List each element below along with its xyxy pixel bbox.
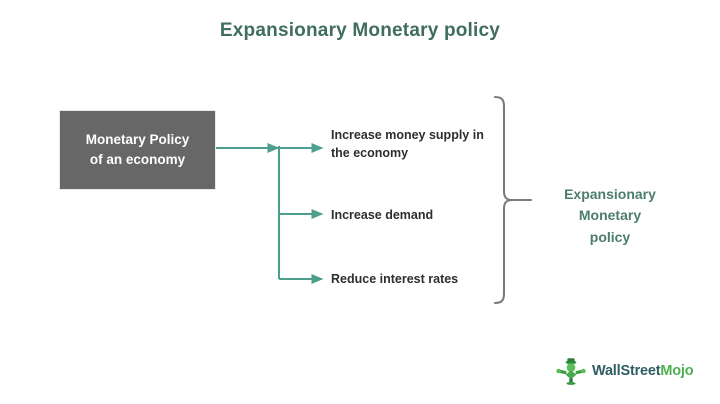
branch-label-reduce-interest-rates: Reduce interest rates (331, 270, 501, 288)
outcome-line1: Expansionary (564, 186, 656, 202)
wallstreetmojo-figure-icon (556, 356, 586, 386)
wallstreetmojo-logo: WallStreetMojo (556, 356, 693, 386)
branch-0-line1: Increase money supply in (331, 128, 484, 142)
source-node-label-line2: of an economy (90, 152, 185, 167)
source-node-label-line1: Monetary Policy (86, 132, 190, 147)
logo-word-accent: Mojo (660, 363, 693, 379)
outcome-label: Expansionary Monetary policy (540, 184, 680, 248)
source-node-box: Monetary Policy of an economy (60, 111, 215, 189)
outcome-line2: Monetary (579, 207, 641, 223)
branch-label-increase-money-supply: Increase money supply in the economy (331, 126, 501, 162)
outcome-line3: policy (590, 229, 630, 245)
source-node-label: Monetary Policy of an economy (78, 130, 198, 169)
branch-2-line1: Reduce interest rates (331, 272, 458, 286)
page-title: Expansionary Monetary policy (0, 20, 720, 42)
diagram-canvas: Expansionary Monetary policy Monetary Po… (0, 0, 720, 404)
logo-word-primary: WallStreet (592, 363, 660, 379)
branch-label-increase-demand: Increase demand (331, 206, 501, 224)
branch-1-line1: Increase demand (331, 208, 433, 222)
branch-0-line2: the economy (331, 146, 408, 160)
logo-wordmark: WallStreetMojo (592, 363, 693, 379)
